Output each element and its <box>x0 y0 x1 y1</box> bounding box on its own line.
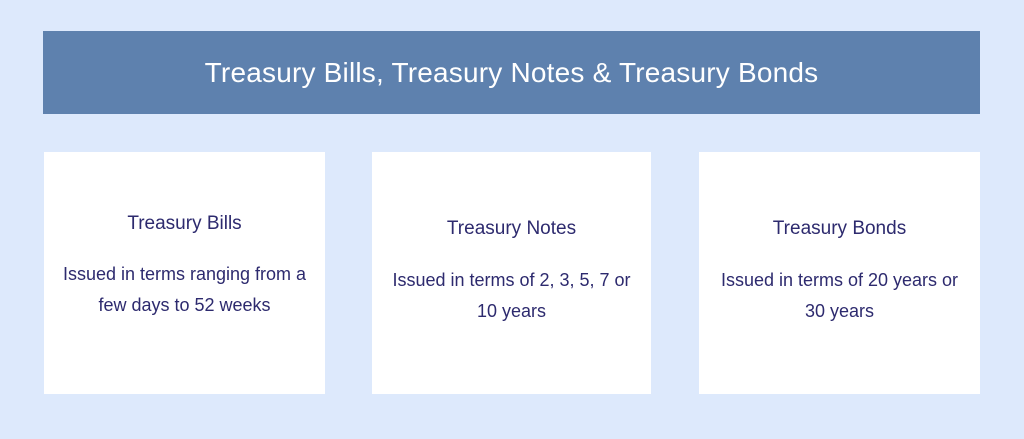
card-treasury-bonds: Treasury Bonds Issued in terms of 20 yea… <box>699 152 980 394</box>
card-row: Treasury Bills Issued in terms ranging f… <box>44 152 980 394</box>
card-title-treasury-bills: Treasury Bills <box>127 211 241 237</box>
card-treasury-bills: Treasury Bills Issued in terms ranging f… <box>44 152 325 394</box>
card-title-treasury-notes: Treasury Notes <box>447 216 576 242</box>
treasury-securities-infographic: Treasury Bills, Treasury Notes & Treasur… <box>0 0 1024 439</box>
card-body-treasury-notes: Issued in terms of 2, 3, 5, 7 or 10 year… <box>386 265 637 327</box>
card-body-treasury-bills: Issued in terms ranging from a few days … <box>58 259 311 321</box>
page-title: Treasury Bills, Treasury Notes & Treasur… <box>205 56 819 90</box>
card-body-treasury-bonds: Issued in terms of 20 years or 30 years <box>713 265 966 327</box>
title-banner: Treasury Bills, Treasury Notes & Treasur… <box>43 31 980 114</box>
card-treasury-notes: Treasury Notes Issued in terms of 2, 3, … <box>372 152 651 394</box>
card-title-treasury-bonds: Treasury Bonds <box>773 216 906 242</box>
